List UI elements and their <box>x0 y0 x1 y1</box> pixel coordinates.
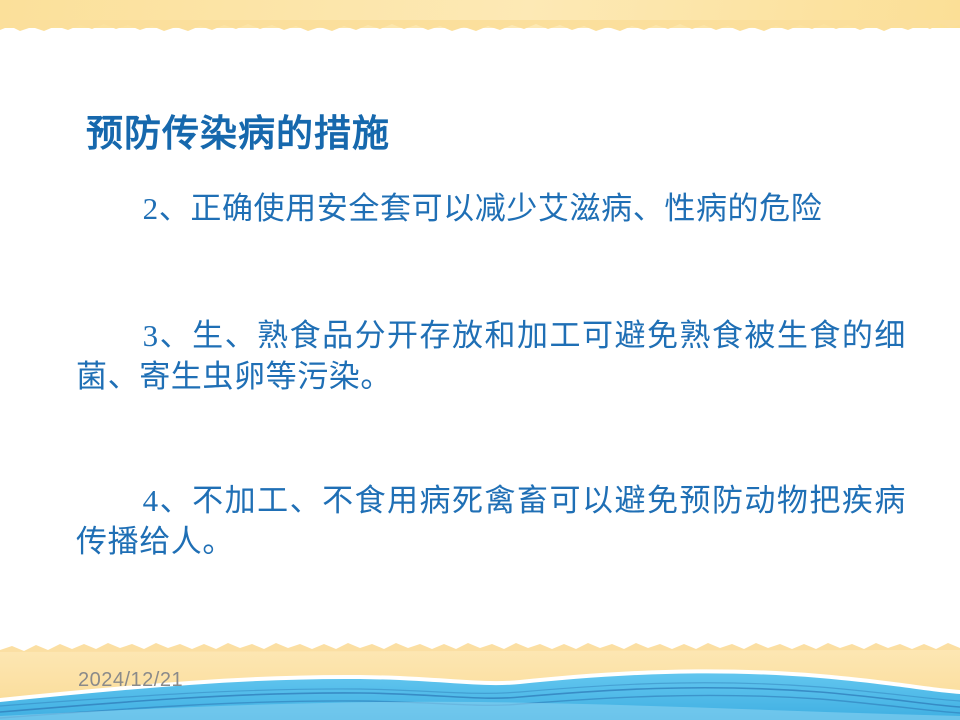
page-title: 预防传染病的措施 <box>86 113 390 154</box>
paragraph-spacer <box>76 229 906 315</box>
paragraph-item: 3、生、熟食品分开存放和加工可避免熟食被生食的细菌、寄生虫卵等污染。 <box>76 315 906 397</box>
paragraph-spacer <box>76 398 906 480</box>
paragraph-item: 2、正确使用安全套可以减少艾滋病、性病的危险 <box>76 188 906 229</box>
body-content: 2、正确使用安全套可以减少艾滋病、性病的危险 3、生、熟食品分开存放和加工可避免… <box>76 188 906 562</box>
slide-canvas: 预防传染病的措施 2、正确使用安全套可以减少艾滋病、性病的危险 3、生、熟食品分… <box>0 0 960 720</box>
top-torn-edge-icon <box>0 20 960 36</box>
paragraph-item: 4、不加工、不食用病死禽畜可以避免预防动物把疾病传播给人。 <box>76 480 906 562</box>
footer-date: 2024/12/21 <box>78 669 183 692</box>
